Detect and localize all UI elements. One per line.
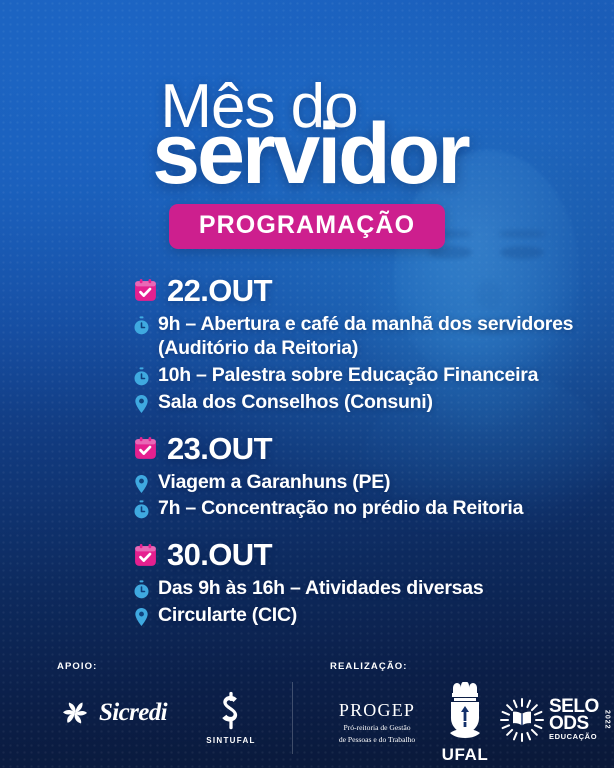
- schedule-entry: 7h – Concentração no prédio da Reitoria: [133, 496, 594, 521]
- schedule-entry: Sala dos Conselhos (Consuni): [133, 390, 594, 415]
- title-line-2: servidor: [6, 119, 614, 190]
- selo-line-2: ODS: [549, 716, 599, 733]
- progep-logo: PROGEP Pró-reitoria de Gestão de Pessoas…: [322, 700, 432, 745]
- selo-line-3: EDUCAÇÃO: [549, 734, 599, 741]
- progep-subtitle-line1: Pró-reitoria de Gestão: [322, 723, 432, 733]
- schedule-day: 23.OUT Viagem a Garanhuns (PE) 7h – Conc…: [133, 431, 594, 522]
- selo-ods-book-burst-icon: [500, 698, 544, 742]
- location-pin-icon: [133, 474, 150, 494]
- schedule-entry-text: Viagem a Garanhuns (PE): [158, 470, 390, 495]
- location-pin-icon: [133, 607, 150, 627]
- schedule-entry: Das 9h às 16h – Atividades diversas: [133, 576, 594, 601]
- day-header: 22.OUT: [133, 273, 594, 309]
- calendar-check-icon: [133, 436, 158, 461]
- sicredi-pinwheel-icon: [60, 698, 90, 728]
- calendar-check-icon: [133, 543, 158, 568]
- stopwatch-icon: [133, 367, 150, 387]
- schedule-entry-text: Circularte (CIC): [158, 603, 297, 628]
- poster-root: Mês do servidor PROGRAMAÇÃO 22.OUT: [0, 0, 614, 768]
- poster-header: Mês do servidor PROGRAMAÇÃO: [0, 0, 614, 249]
- ufal-crest-icon: [440, 682, 490, 744]
- stopwatch-icon: [133, 500, 150, 520]
- schedule-entry-text: 7h – Concentração no prédio da Reitoria: [158, 496, 523, 521]
- stopwatch-icon: [133, 580, 150, 600]
- day-date-label: 22.OUT: [167, 273, 272, 309]
- stopwatch-icon: [133, 316, 150, 336]
- schedule-entry: 9h – Abertura e café da manhã dos servid…: [133, 312, 594, 362]
- footer-divider: [292, 682, 293, 754]
- schedule-entry-text: Sala dos Conselhos (Consuni): [158, 390, 433, 415]
- sintufal-logo: SINTUFAL: [198, 690, 264, 745]
- schedule-entry-text: 10h – Palestra sobre Educação Financeira: [158, 363, 538, 388]
- day-header: 23.OUT: [133, 431, 594, 467]
- schedule-day: 30.OUT Das 9h às 16h – Atividades divers…: [133, 537, 594, 628]
- schedule-entry-text: Das 9h às 16h – Atividades diversas: [158, 576, 483, 601]
- day-date-label: 30.OUT: [167, 537, 272, 573]
- location-pin-icon: [133, 394, 150, 414]
- schedule-list: 22.OUT 9h – Abertura e café da manhã dos…: [0, 273, 614, 628]
- realizacao-label: REALIZAÇÃO:: [330, 661, 408, 672]
- schedule-entry: 10h – Palestra sobre Educação Financeira: [133, 363, 594, 388]
- ufal-logo: UFAL: [432, 682, 498, 765]
- schedule-entry: Circularte (CIC): [133, 603, 594, 628]
- progep-wordmark: PROGEP: [322, 700, 432, 721]
- selo-ods-wordmark: SELO ODS EDUCAÇÃO: [549, 699, 599, 741]
- sintufal-symbol-icon: [212, 690, 250, 732]
- ufal-wordmark: UFAL: [432, 745, 498, 765]
- schedule-day: 22.OUT 9h – Abertura e café da manhã dos…: [133, 273, 594, 415]
- calendar-check-icon: [133, 278, 158, 303]
- day-header: 30.OUT: [133, 537, 594, 573]
- selo-year-vertical: 2022: [604, 710, 611, 730]
- apoio-label: APOIO:: [57, 661, 97, 672]
- schedule-entry-text: 9h – Abertura e café da manhã dos servid…: [158, 312, 594, 362]
- progep-subtitle-line2: de Pessoas e do Trabalho: [322, 735, 432, 745]
- sintufal-wordmark: SINTUFAL: [198, 736, 264, 745]
- selo-ods-logo: SELO ODS EDUCAÇÃO 2022: [500, 698, 611, 742]
- sicredi-wordmark: Sicredi: [99, 699, 167, 727]
- programacao-badge: PROGRAMAÇÃO: [169, 204, 445, 249]
- badge-container: PROGRAMAÇÃO: [0, 204, 614, 249]
- day-date-label: 23.OUT: [167, 431, 272, 467]
- schedule-entry: Viagem a Garanhuns (PE): [133, 470, 594, 495]
- poster-footer: APOIO: REALIZAÇÃO: Sicredi: [0, 642, 614, 768]
- sicredi-logo: Sicredi: [60, 698, 167, 728]
